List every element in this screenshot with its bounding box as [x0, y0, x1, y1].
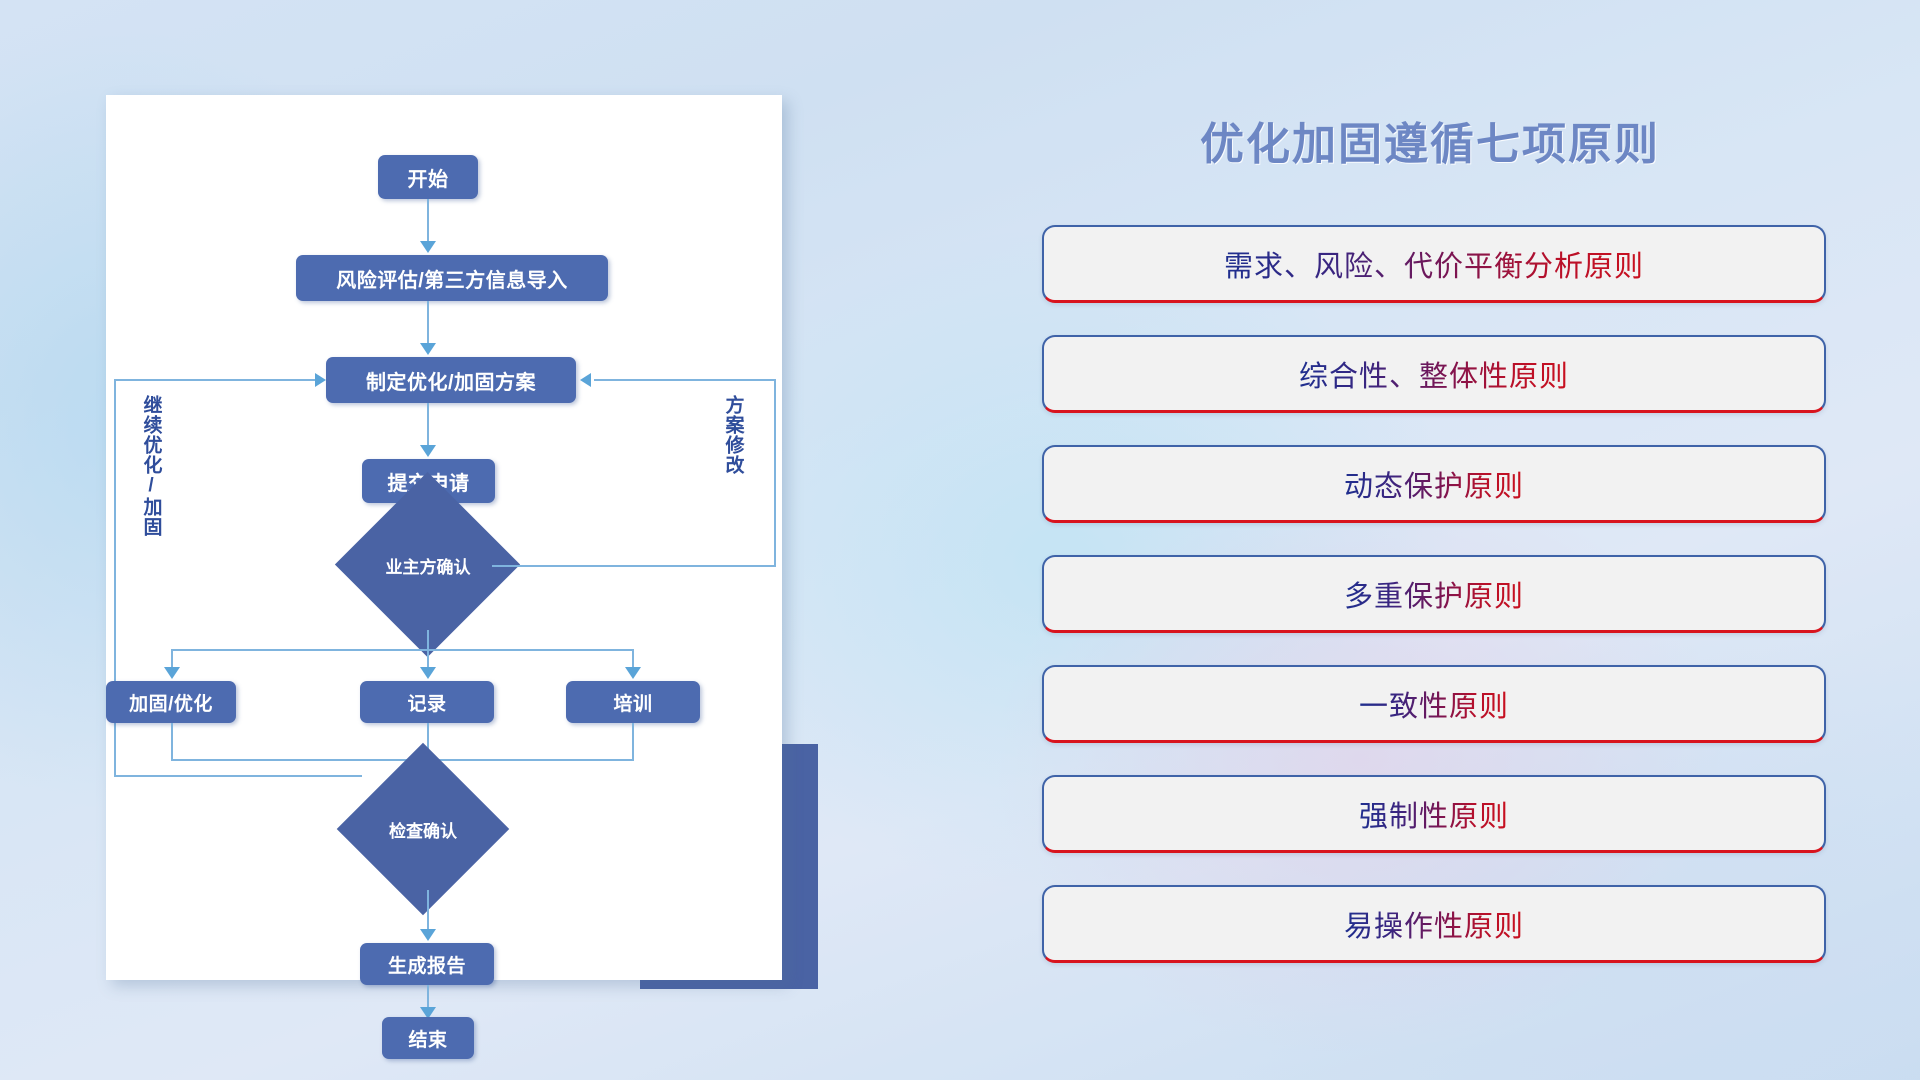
flow-decision-check-confirm[interactable] [337, 743, 510, 916]
feedback-right-bottom-line [492, 565, 776, 567]
principle-label: 一致性原则 [1359, 683, 1509, 725]
flow-node-train-label: 培训 [613, 689, 652, 716]
flowchart-card: 开始 风险评估/第三方信息导入 制定优化/加固方案 提交申请 [106, 95, 782, 980]
principles-list: 需求、风险、代价平衡分析原则 综合性、整体性原则 动态保护原则 多重保护原则 一… [1042, 225, 1826, 995]
arrow-risk-to-plan [420, 343, 436, 355]
principle-item[interactable]: 需求、风险、代价平衡分析原则 [1042, 225, 1826, 303]
feedback-right-vertical [774, 379, 776, 567]
flow-node-record-label: 记录 [407, 689, 446, 716]
principle-item[interactable]: 综合性、整体性原则 [1042, 335, 1826, 413]
principle-label: 综合性、整体性原则 [1299, 353, 1569, 395]
connector-owner-to-branch-bus [427, 630, 429, 650]
flow-node-report[interactable]: 生成报告 [360, 943, 494, 985]
branch-bus-horizontal [171, 649, 633, 651]
connector-reinforce-down [171, 723, 173, 761]
principle-label: 易操作性原则 [1344, 903, 1524, 945]
flow-node-train[interactable]: 培训 [566, 681, 700, 723]
flow-node-reinforce[interactable]: 加固/优化 [106, 681, 236, 723]
flow-node-end[interactable]: 结束 [382, 1017, 474, 1059]
merge-bus-horizontal [171, 759, 633, 761]
connector-risk-to-plan [427, 301, 429, 349]
arrow-start-to-risk [420, 241, 436, 253]
flow-node-reinforce-label: 加固/优化 [129, 689, 213, 716]
arrow-feedback-left-into-plan [315, 373, 326, 387]
arrow-plan-to-submit [420, 445, 436, 457]
principle-label: 强制性原则 [1359, 793, 1509, 835]
principle-label: 动态保护原则 [1344, 463, 1524, 505]
flow-node-report-label: 生成报告 [388, 951, 466, 978]
arrow-check-to-report [420, 929, 436, 941]
principle-label: 多重保护原则 [1344, 573, 1524, 615]
panel-title: 优化加固遵循七项原则 [1020, 108, 1840, 172]
arrow-bus-to-reinforce [164, 667, 180, 679]
flow-node-start-label: 开始 [408, 163, 449, 192]
flow-node-risk-assessment[interactable]: 风险评估/第三方信息导入 [296, 255, 608, 301]
principle-item[interactable]: 动态保护原则 [1042, 445, 1826, 523]
feedback-right-top-line [594, 379, 776, 381]
principle-item[interactable]: 一致性原则 [1042, 665, 1826, 743]
flow-node-start[interactable]: 开始 [378, 155, 478, 199]
connector-plan-to-submit [427, 403, 429, 451]
flow-node-record[interactable]: 记录 [360, 681, 494, 723]
flow-node-plan[interactable]: 制定优化/加固方案 [326, 357, 576, 403]
principle-item[interactable]: 强制性原则 [1042, 775, 1826, 853]
principle-label: 需求、风险、代价平衡分析原则 [1224, 243, 1644, 285]
connector-train-down [632, 723, 634, 761]
flow-node-end-label: 结束 [408, 1025, 447, 1052]
principles-panel: 优化加固遵循七项原则 需求、风险、代价平衡分析原则 综合性、整体性原则 动态保护… [1020, 0, 1900, 1080]
feedback-left-label: 继续优化/加固 [140, 395, 161, 537]
feedback-left-top-line [114, 379, 318, 381]
arrow-feedback-right-into-plan [580, 373, 591, 387]
slide-canvas: 开始 风险评估/第三方信息导入 制定优化/加固方案 提交申请 [0, 0, 1920, 1080]
connector-start-to-risk [427, 199, 429, 247]
feedback-left-bottom-line [114, 775, 362, 777]
principle-item[interactable]: 多重保护原则 [1042, 555, 1826, 633]
flowchart-diagram: 开始 风险评估/第三方信息导入 制定优化/加固方案 提交申请 [106, 95, 782, 980]
arrow-bus-to-record [420, 667, 436, 679]
feedback-right-label: 方案修改 [722, 395, 743, 475]
flow-node-risk-assessment-label: 风险评估/第三方信息导入 [336, 264, 568, 293]
arrow-bus-to-train [625, 667, 641, 679]
flow-node-plan-label: 制定优化/加固方案 [366, 366, 536, 395]
principle-item[interactable]: 易操作性原则 [1042, 885, 1826, 963]
